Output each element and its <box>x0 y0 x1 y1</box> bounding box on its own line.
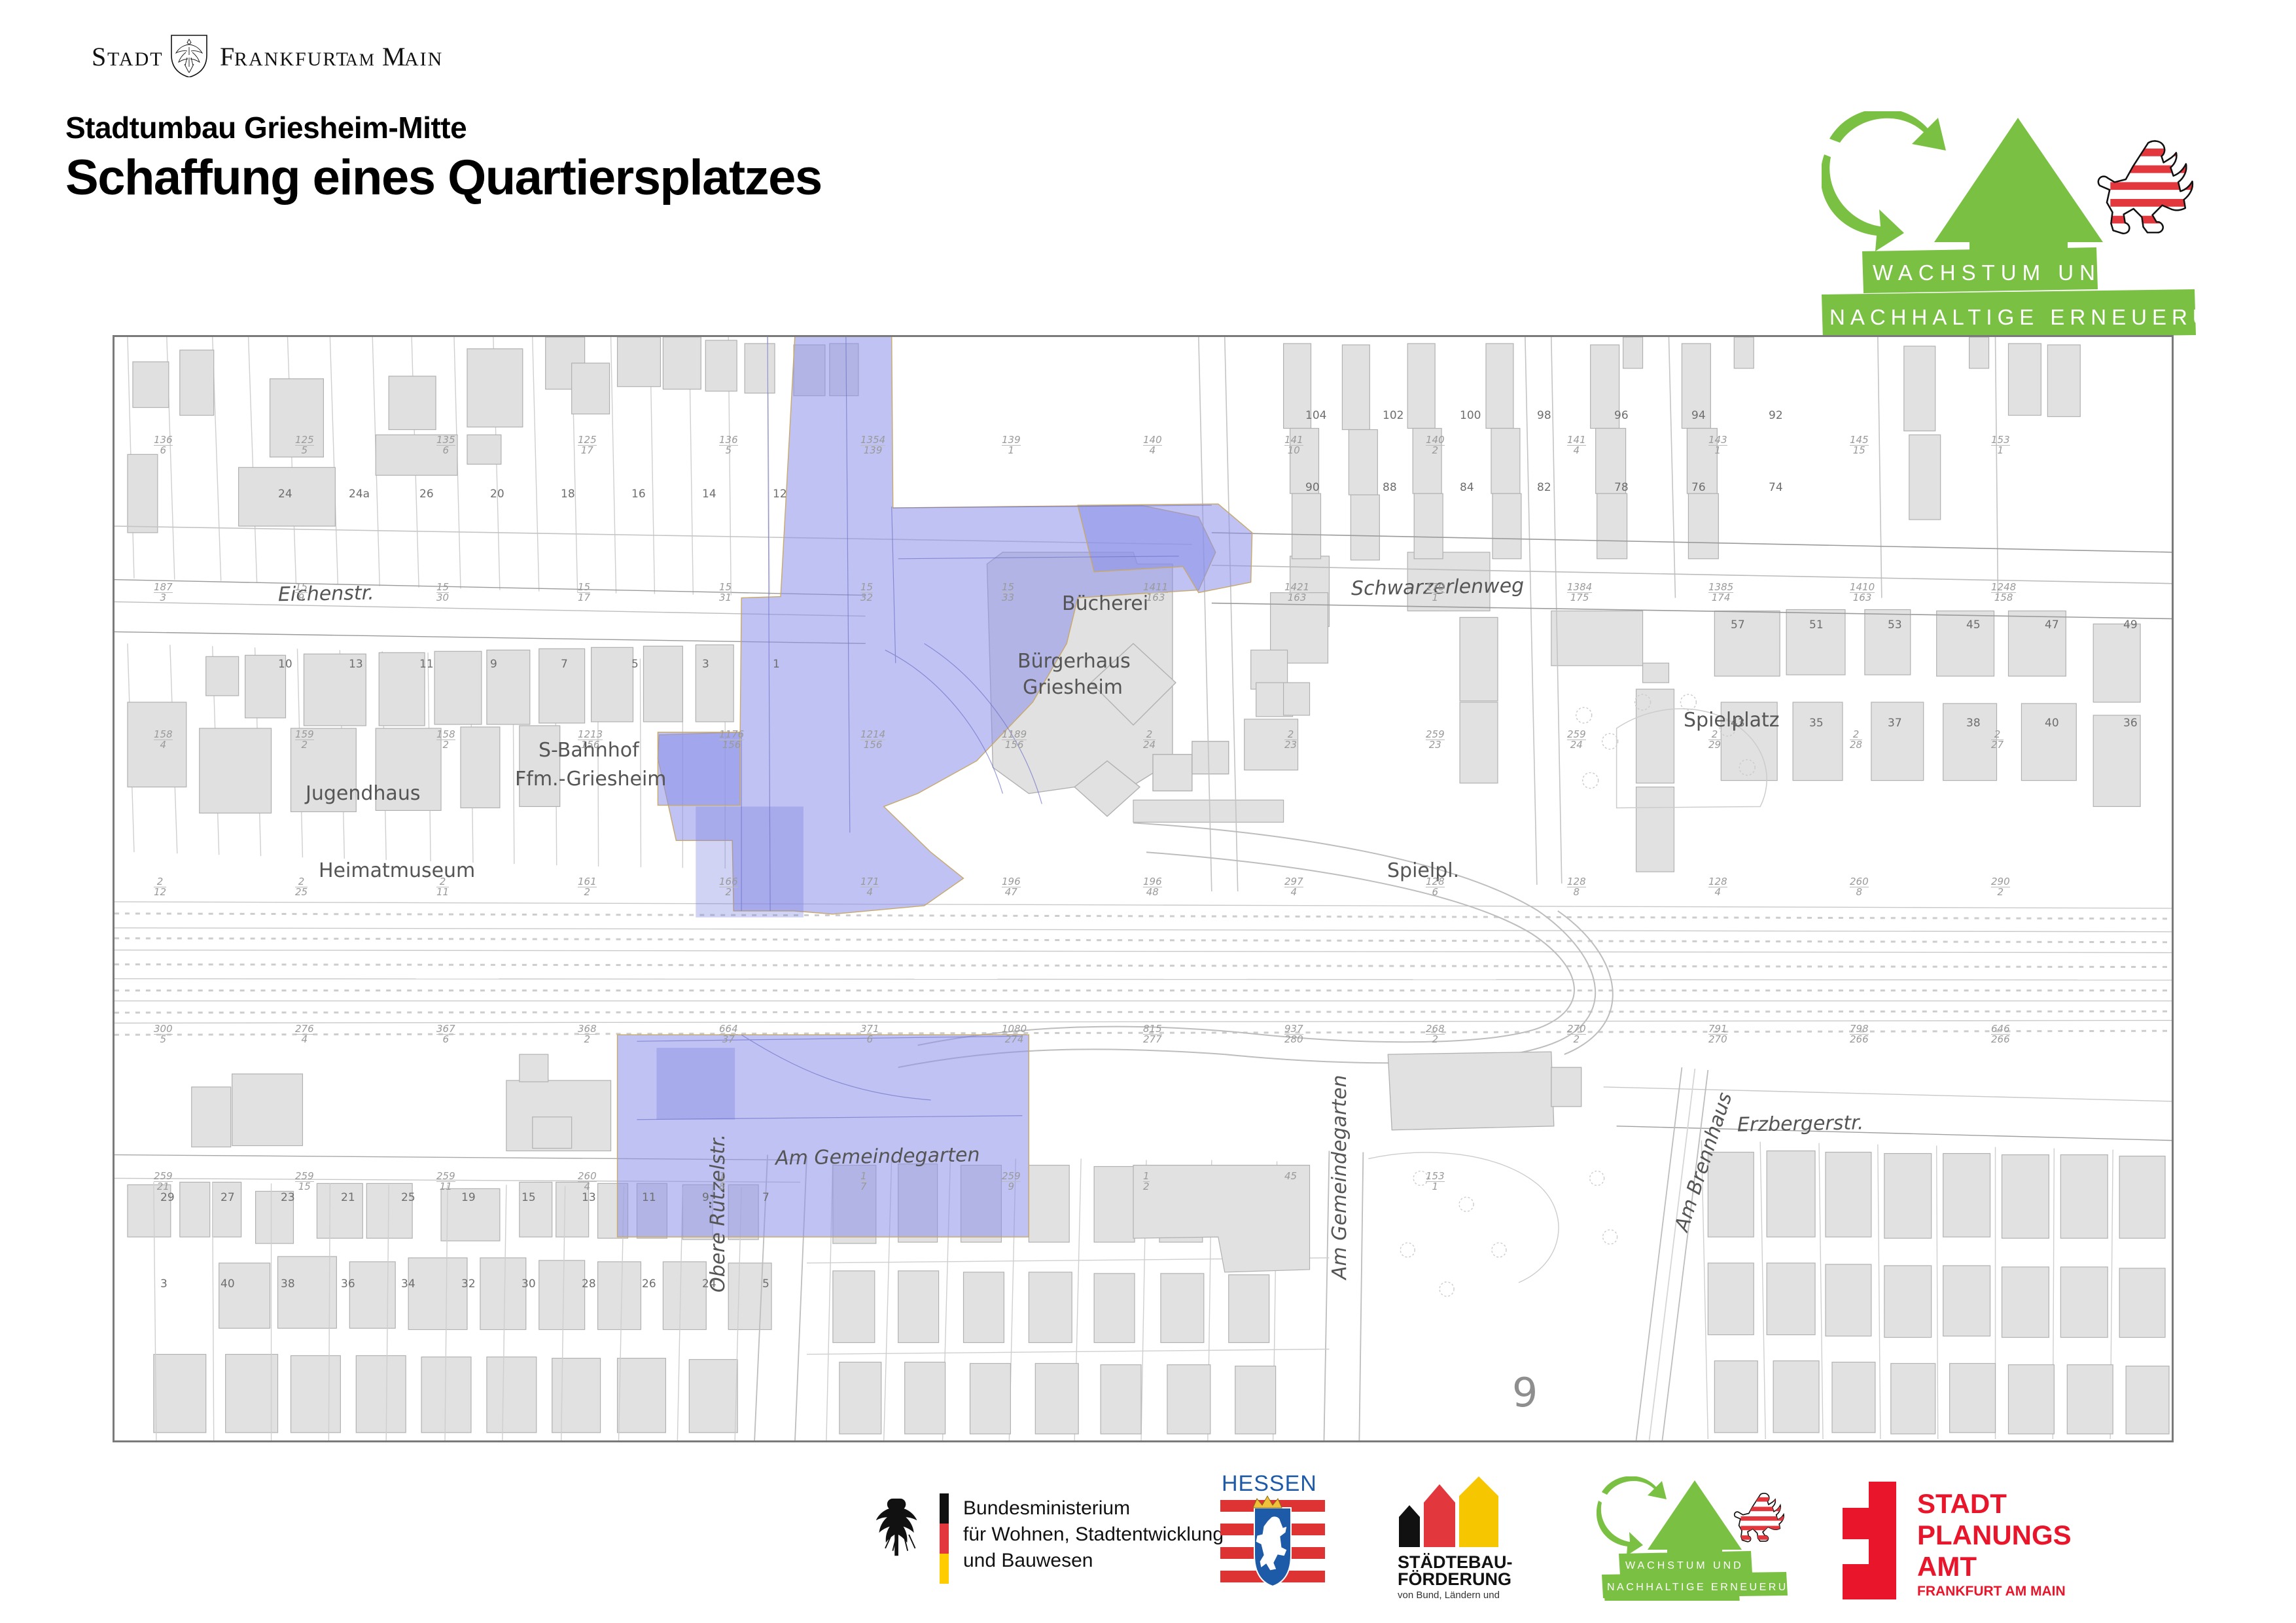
svg-text:9: 9 <box>1512 1369 1538 1416</box>
wachstum-small-line1: WACHSTUM UND <box>1625 1560 1744 1571</box>
wachstum-small-line3: STÄDTEBAUFÖRDERUNG HESSEN <box>1610 1600 1753 1601</box>
svg-text:RANKFURT: RANKFURT <box>234 48 349 70</box>
bmwsb-line3: und Bauwesen <box>963 1550 1093 1571</box>
svg-text:S: S <box>92 42 107 71</box>
svg-text:AM: AM <box>345 50 376 69</box>
title-block: Stadtumbau Griesheim-Mitte Schaffung ein… <box>65 111 822 205</box>
logo-stadtplanungsamt: STADT PLANUNGS AMT FRANKFURT AM MAIN <box>1832 1482 2140 1599</box>
svg-text:TADT: TADT <box>107 48 164 70</box>
logo-wachstum-small: WACHSTUM UND NACHHALTIGE ERNEUERUNG STÄD… <box>1597 1476 1793 1601</box>
hessen-label: HESSEN <box>1222 1471 1317 1496</box>
svg-text:AIN: AIN <box>404 48 443 70</box>
stadtplanungsamt-line2: PLANUNGS <box>1917 1520 2072 1550</box>
bmwsb-line1: Bundesministerium <box>963 1497 1130 1519</box>
page-title: Schaffung eines Quartiersplatzes <box>65 150 822 205</box>
bmwsb-line2: für Wohnen, Stadtentwicklung <box>963 1524 1224 1545</box>
stadtplanungsamt-line3: AMT <box>1917 1551 1977 1582</box>
program-logo-line1: WACHSTUM UND <box>1873 260 2123 285</box>
stadtplanungsamt-line1: STADT <box>1917 1488 2007 1519</box>
stadtplanungsamt-sub: FRANKFURT AM MAIN <box>1917 1584 2066 1599</box>
logo-staedtebaufoerderung: STÄDTEBAU- FÖRDERUNG von Bund, Ländern u… <box>1387 1476 1557 1601</box>
staedtebau-line2: FÖRDERUNG <box>1398 1569 1511 1589</box>
svg-text:F: F <box>220 42 234 71</box>
logo-bundesministerium: Bundesministerium für Wohnen, Stadtentwi… <box>870 1480 1237 1598</box>
program-logo-line2: NACHHALTIGE ERNEUERUNG <box>1829 305 2227 329</box>
footer-logo-bar: Bundesministerium für Wohnen, Stadtentwi… <box>0 1459 2296 1623</box>
staedtebau-sub1: von Bund, Ländern und <box>1398 1590 1500 1601</box>
svg-text:M: M <box>382 42 406 71</box>
subtitle: Stadtumbau Griesheim-Mitte <box>65 111 822 145</box>
cadastral-map[interactable]: 9 <box>113 335 2174 1442</box>
city-logo: S TADT F RANKFURT AM M AIN <box>92 31 510 77</box>
program-logo-wachstum-und-nachhaltige-erneuerung: WACHSTUM UND NACHHALTIGE ERNEUERUNG STÄD… <box>1822 111 2227 373</box>
logo-hessen: HESSEN <box>1214 1471 1345 1602</box>
wachstum-small-line2: NACHHALTIGE ERNEUERUNG <box>1607 1582 1793 1593</box>
